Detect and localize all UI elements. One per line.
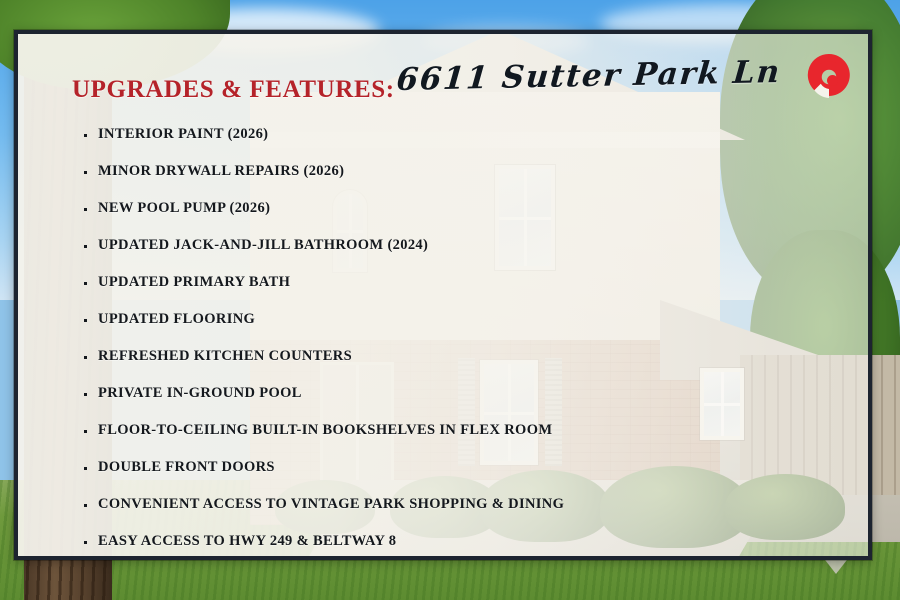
real-estate-flyer: UPGRADES & FEATURES: INTERIOR PAINT (202… [0,0,900,600]
feature-label: FLOOR-TO-CEILING BUILT-IN BOOKSHELVES IN… [98,422,552,438]
list-item: DOUBLE FRONT DOORS [84,459,846,476]
list-item: FLOOR-TO-CEILING BUILT-IN BOOKSHELVES IN… [84,422,846,439]
bullet-icon [84,467,87,470]
bullet-icon [84,504,87,507]
location-pin-logo-icon [804,52,854,102]
feature-label: INTERIOR PAINT (2026) [98,126,268,142]
bullet-icon [84,208,87,211]
bullet-icon [84,319,87,322]
feature-label: UPDATED JACK-AND-JILL BATHROOM (2024) [98,237,428,253]
bullet-icon [84,282,87,285]
list-item: INTERIOR PAINT (2026) [84,126,846,143]
bullet-icon [84,171,87,174]
feature-label: REFRESHED KITCHEN COUNTERS [98,348,352,364]
bullet-icon [84,393,87,396]
feature-label: CONVENIENT ACCESS TO VINTAGE PARK SHOPPI… [98,496,564,512]
feature-label: MINOR DRYWALL REPAIRS (2026) [98,163,344,179]
list-item: NEW POOL PUMP (2026) [84,200,846,217]
list-item: CONVENIENT ACCESS TO VINTAGE PARK SHOPPI… [84,496,846,513]
list-item: UPDATED FLOORING [84,311,846,328]
feature-label: UPDATED PRIMARY BATH [98,274,290,290]
list-item: REFRESHED KITCHEN COUNTERS [84,348,846,365]
corner-chevron-marker [822,556,850,574]
feature-label: UPDATED FLOORING [98,311,255,327]
list-item: MINOR DRYWALL REPAIRS (2026) [84,163,846,180]
features-list: INTERIOR PAINT (2026) MINOR DRYWALL REPA… [84,126,846,550]
list-item: UPDATED JACK-AND-JILL BATHROOM (2024) [84,237,846,254]
bullet-icon [84,541,87,544]
feature-label: NEW POOL PUMP (2026) [98,200,270,216]
bullet-icon [84,430,87,433]
feature-label: DOUBLE FRONT DOORS [98,459,275,475]
flyer-content: UPGRADES & FEATURES: INTERIOR PAINT (202… [14,30,872,560]
bullet-icon [84,245,87,248]
list-item: PRIVATE IN-GROUND POOL [84,385,846,402]
feature-label: PRIVATE IN-GROUND POOL [98,385,302,401]
list-item: UPDATED PRIMARY BATH [84,274,846,291]
feature-label: EASY ACCESS TO HWY 249 & BELTWAY 8 [98,533,396,549]
list-item: EASY ACCESS TO HWY 249 & BELTWAY 8 [84,533,846,550]
bullet-icon [84,134,87,137]
bullet-icon [84,356,87,359]
